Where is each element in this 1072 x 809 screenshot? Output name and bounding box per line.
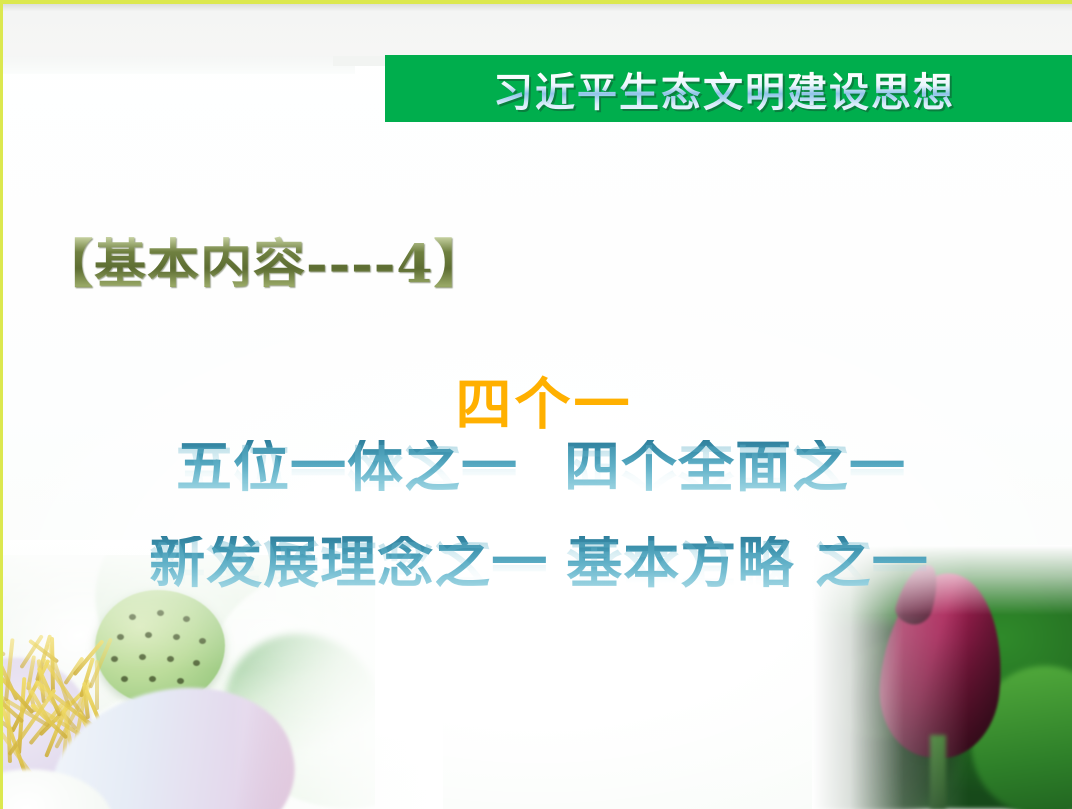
rose-stem [930,735,946,809]
lotus-stamen [5,699,11,763]
lotus-stamen [88,638,113,689]
lotus-stamen [60,705,80,783]
slide-title-banner: 习近平生态文明建设思想 [385,55,1072,122]
header-gray-band-notch [333,56,385,66]
lotus-pod-dot [173,634,180,640]
lotus-stamen [30,703,69,739]
pillar-text: 新发展理念之一 [149,536,548,592]
lotus-pod-dot [117,634,124,640]
lotus-stamen [19,634,44,669]
amber-subheading: 四个一 [3,360,1072,441]
pillar-row-1: 五位一体之一 五位一体之一 四个全面之一 四个全面之一 [3,440,1072,528]
lotus-stamen [29,689,52,726]
header-gray-band-step [3,56,355,74]
lotus-stamen [26,681,37,712]
lotus-pod-dot [121,676,128,682]
pillar-item-wuweiyiti: 五位一体之一 五位一体之一 [176,440,518,496]
lotus-stamen [54,682,92,749]
lotus-stamen [98,704,134,765]
lotus-stamen [0,684,50,728]
lotus-stamen [34,681,78,730]
lotus-stamen [72,639,104,676]
pillar-item-jibenfanglue: 基本方略 之一 基本方略 之一 [566,536,929,592]
lotus-stamen [79,657,95,697]
pillar-text: 基本方略 之一 [566,536,929,592]
lotus-stamen [84,689,106,733]
lotus-stamen [41,657,87,721]
lotus-stamen [35,634,52,681]
pillar-row-2: 新发展理念之一 新发展理念之一 基本方略 之一 基本方略 之一 [3,536,1072,624]
lotus-stamen [0,706,28,776]
lotus-pod-dot [177,678,184,684]
lotus-pod-dot [199,638,206,644]
lotus-stamen [0,668,9,710]
pillar-item-sigequanmian: 四个全面之一 四个全面之一 [564,440,906,496]
lotus-stamen [10,659,50,733]
lotus-stamen [0,683,25,723]
lotus-stamen [47,644,71,708]
lotus-stamen [0,721,43,790]
lotus-stamen [26,655,36,690]
lotus-stamen [4,638,15,701]
lotus-stamen [7,688,56,756]
lotus-stamen [31,703,93,744]
pillar-text: 四个全面之一 [564,440,906,496]
header-gray-band [3,4,1072,56]
lotus-pod-dot [167,656,174,662]
lotus-pod-dot [193,660,200,666]
lotus-stamen [37,667,62,717]
lotus-stamen [0,704,15,733]
lotus-stamen [37,659,46,703]
lotus-pod-dot [111,656,118,662]
lotus-stamen [61,700,71,770]
lotus-pod-dot [139,654,146,660]
lotus-stamen [77,711,96,742]
section-heading: 【基本内容----4】 [41,222,487,297]
lotus-stamen [82,682,90,719]
lotus-stamen [82,709,127,752]
lotus-stamen [95,660,99,710]
lotus-stamens [0,605,115,755]
pillar-text: 五位一体之一 [176,440,518,496]
presentation-slide: 习近平生态文明建设思想 【基本内容----4】 四个一 五位一体之一 五位一体之… [0,0,1072,809]
lotus-stamen [29,702,65,745]
pillar-item-xinfazhanlinian: 新发展理念之一 新发展理念之一 [149,536,548,592]
lotus-stamen [0,638,6,656]
lotus-stamen [45,700,72,758]
lotus-stamen [28,639,59,664]
lotus-stamen [34,680,103,735]
lotus-stamen [38,688,87,737]
lotus-pod-dot [149,676,156,682]
slide-title-text: 习近平生态文明建设思想 [493,60,967,118]
lotus-stamen [0,660,34,714]
lotus-stamen [17,677,26,754]
lotus-stamen [63,656,84,685]
lotus-pod-dot [145,632,152,638]
lotus-stamen [70,679,90,761]
lotus-stamen [0,645,18,701]
four-pillars-block: 五位一体之一 五位一体之一 四个全面之一 四个全面之一 新发展理念之一 新发展理… [3,440,1072,624]
lotus-stamen [50,637,55,694]
